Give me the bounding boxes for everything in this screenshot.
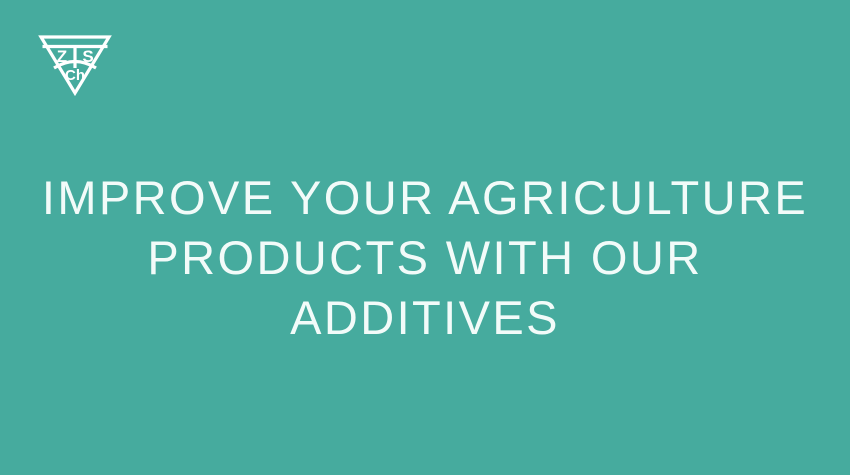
headline-block: IMPROVE YOUR AGRICULTURE PRODUCTS WITH O… — [0, 168, 850, 348]
page-title: IMPROVE YOUR AGRICULTURE PRODUCTS WITH O… — [40, 168, 810, 348]
headline-line-1: IMPROVE YOUR AGRICULTURE — [40, 168, 810, 228]
logo-letter-ch: Ch — [65, 67, 85, 84]
headline-line-2: PRODUCTS WITH OUR — [40, 228, 810, 288]
headline-line-3: ADDITIVES — [40, 288, 810, 348]
logo-letter-s: S — [82, 47, 93, 66]
brand-logo[interactable]: Z S Ch — [38, 34, 112, 96]
logo-letter-z: Z — [57, 47, 67, 66]
hero-slide: Z S Ch IMPROVE YOUR AGRICULTURE PRODUCTS… — [0, 0, 850, 475]
